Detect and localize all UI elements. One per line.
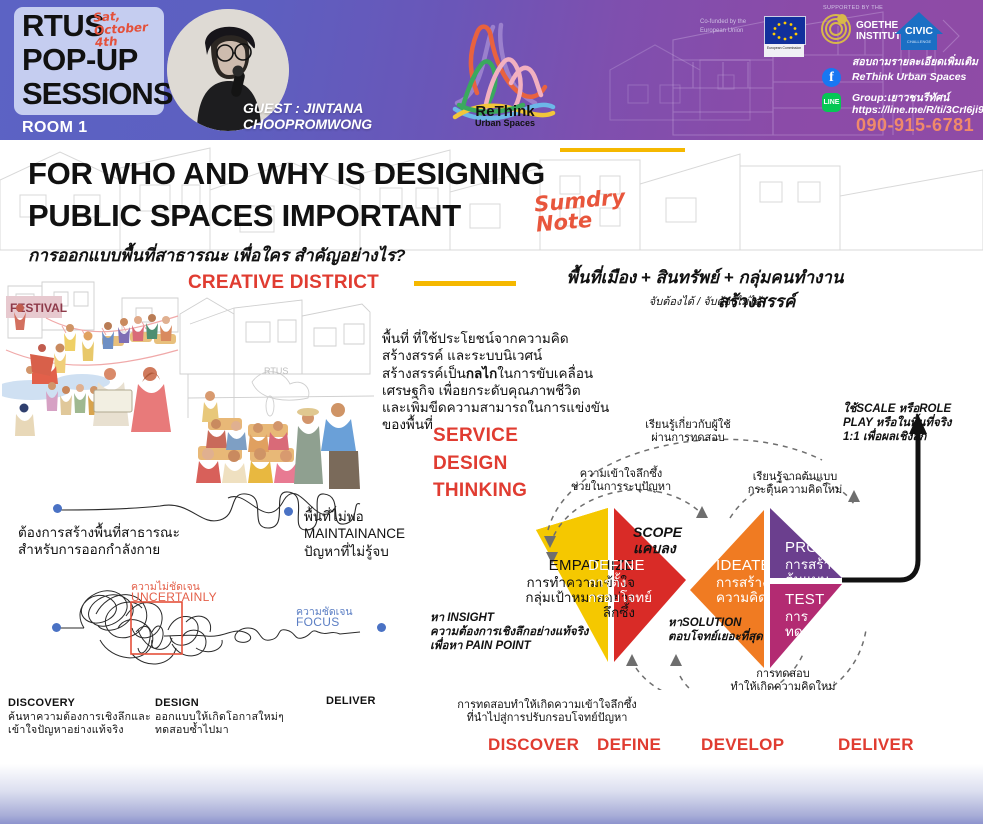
solution-line-1: หาSOLUTION [668, 617, 818, 631]
svg-text:RTUS: RTUS [264, 366, 288, 376]
define-th-2: กรอบโจทย์ [588, 590, 678, 605]
prototype-en: PROTOTYPE [785, 540, 885, 557]
scope-th: แคบลง [633, 540, 682, 556]
phase-discovery: DISCOVERY ค้นหาความต้องการเชิงลึกและ เข้… [8, 697, 158, 737]
community-festival-illustration: FESTIVAL RTUS [2, 278, 374, 493]
footer-gradient [0, 764, 983, 824]
creative-district-formula-tail: สร้างสรรค์ [718, 288, 795, 315]
phase-deliver-name: DELIVER [326, 695, 436, 707]
page-subtitle-thai: การออกแบบพื้นที่สาธารณะ เพื่อใคร สำคัญอย… [28, 242, 405, 269]
dd-phase-deliver: DELIVER [838, 735, 914, 755]
annotation-test-insight-line-2: ทำให้เกิดความคิดใหม่ [700, 681, 866, 694]
annotation-understand-line-2: ช่วยในการระบุปัญหา [541, 481, 701, 494]
annotation-test-reframe-line-2: ที่นำไปสู่การปรับกรอบโจทย์ปัญหา [437, 712, 657, 725]
annotation-learn-users: เรียนรู้เกี่ยวกับผู้ใช้ ผ่านการทดสอบ [608, 419, 768, 445]
squiggle-note-left-line-1: ต้องการสร้างพื้นที่สาธารณะ [18, 525, 248, 542]
prototype-th-2: ต้นแบบ [785, 572, 885, 587]
annotation-learn-prototype-line-2: กระตุ้นความคิดใหม่ [712, 484, 878, 497]
cd-body-line-4: เศรษฐกิจ เพื่อยกระดับคุณภาพชีวิต [382, 382, 622, 399]
cd-body-line-3a: สร้างสรรค์เป็น [382, 366, 466, 381]
annotation-learn-prototype: เรียนรู้จากต้นแบบ กระตุ้นความคิดใหม่ [712, 471, 878, 497]
dd-phase-develop: DEVELOP [701, 735, 784, 755]
facebook-page-name[interactable]: ReThink Urban Spaces [852, 71, 966, 84]
phase-design: DESIGN ออกแบบให้เกิดโอกาสใหม่ๆ ทดสอบซ้ำไ… [155, 697, 305, 737]
annotation-test-reframe: การทดสอบทำให้เกิดความเข้าใจลึกซึ้ง ที่นำ… [437, 699, 657, 725]
contact-phone[interactable]: 090-915-6781 [856, 115, 974, 136]
insight-line-2: ความต้องการเชิงลึกอย่างแท้จริง [430, 626, 630, 640]
guest-name: GUEST : JINTANA CHOOPROMWONG [243, 100, 413, 132]
phase-design-name: DESIGN [155, 697, 305, 709]
creative-district-formula-note: จับต้องได้ / จับต้องไม่ได้ [525, 292, 885, 310]
svg-text:CHALLENGE: CHALLENGE [907, 39, 932, 44]
triangle-label-ideate: IDEATE การสร้าง ความคิด [716, 558, 796, 605]
design-squiggle-main [0, 570, 420, 680]
goethe-institut-logo-icon: GOETHE INSTITUT [820, 12, 900, 46]
line-icon[interactable]: LINE [822, 93, 841, 112]
scope-annotation: SCOPE แคบลง [633, 524, 682, 556]
creative-district-formula: พื้นที่เมือง + สินทรัพย์ + กลุ่มคนทำงาน [525, 268, 885, 288]
uncertainly-label-en: UNCERTAINLY [131, 590, 217, 604]
squiggle-end-dot [284, 507, 293, 516]
annotation-test-reframe-line-1: การทดสอบทำให้เกิดความเข้าใจลึกซึ้ง [437, 699, 657, 712]
annotation-learn-prototype-line-1: เรียนรู้จากต้นแบบ [712, 471, 878, 484]
squiggle-main-start-dot [52, 623, 61, 632]
cd-body-line-2: สร้างสรรค์ และระบบนิเวศน์ [382, 347, 622, 364]
scope-en: SCOPE [633, 524, 682, 540]
supported-by-label: SUPPORTED BY THE [823, 5, 883, 11]
solution-annotation: หาSOLUTION ตอบโจทย์เยอะที่สุด [668, 617, 818, 645]
phase-design-desc-2: ทดสอบซ้ำไปมา [155, 724, 305, 737]
solution-line-2: ตอบโจทย์เยอะที่สุด [668, 631, 818, 645]
page-title-line-1: FOR WHO AND WHY IS DESIGNING [28, 158, 545, 189]
test-en: TEST [785, 592, 865, 609]
annotation-test-insight-line-1: การทดสอบ [700, 668, 866, 681]
squiggle-note-left-line-2: สำหรับการออกกำลังกาย [18, 542, 248, 559]
phase-discovery-desc-2: เข้าใจปัญหาอย่างแท้จริง [8, 724, 158, 737]
define-th-1: การตั้ง [588, 575, 678, 590]
ideate-th-1: การสร้าง [716, 575, 796, 590]
phase-discovery-desc-1: ค้นหาความต้องการเชิงลึกและ [8, 711, 158, 724]
phase-deliver: DELIVER [326, 695, 436, 709]
scale-line-3: 1:1 เพื่อผลเชิงลึก [843, 431, 983, 445]
phase-discovery-name: DISCOVERY [8, 697, 158, 709]
page-title-line-2: PUBLIC SPACES IMPORTANT [28, 200, 461, 231]
creative-district-divider [414, 281, 516, 286]
ideate-th-2: ความคิด [716, 590, 796, 605]
rethink-logo-subtitle: Urban Spaces [455, 119, 555, 128]
insight-annotation: หา INSIGHT ความต้องการเชิงลึกอย่างแท้จริ… [430, 612, 630, 653]
annotation-understand-line-1: ความเข้าใจลึกซึ้ง [541, 468, 701, 481]
annotation-learn-users-line-1: เรียนรู้เกี่ยวกับผู้ใช้ [608, 419, 768, 432]
room-label: ROOM 1 [22, 119, 88, 137]
eu-commission-caption: European Commission [764, 44, 804, 57]
insight-line-1: หา INSIGHT [430, 612, 630, 626]
phase-design-desc-1: ออกแบบให้เกิดโอกาสใหม่ๆ [155, 711, 305, 724]
cd-body-line-3: สร้างสรรค์เป็นกลไกในการขับเคลื่อน [382, 365, 622, 382]
contact-heading: สอบถามรายละเอียดเพิ่มเติม [852, 56, 978, 69]
cd-body-keyword: กลไก [466, 366, 497, 381]
define-en: DEFINE [588, 558, 678, 575]
facebook-icon[interactable]: f [822, 68, 841, 87]
dd-phase-define: DEFINE [597, 735, 661, 755]
squiggle-note-left: ต้องการสร้างพื้นที่สาธารณะ สำหรับการออกก… [18, 525, 248, 559]
insight-line-3: เพื่อหา PAIN POINT [430, 640, 630, 654]
focus-label-en: FOCUS [296, 615, 340, 629]
poster-canvas: RTUS POP-UP SESSIONS Sat, October 4th RO… [0, 0, 983, 824]
session-date: Sat, October 4th [93, 6, 173, 49]
prototype-th-1: การสร้าง [785, 557, 885, 572]
squiggle-start-dot [53, 504, 62, 513]
rethink-logo-name: ReThink [455, 104, 555, 119]
brand-line-3: SESSIONS [22, 78, 173, 109]
eu-flag-icon [764, 16, 806, 45]
annotation-understand: ความเข้าใจลึกซึ้ง ช่วยในการระบุปัญหา [541, 468, 701, 494]
dd-phase-discover: DISCOVER [488, 735, 579, 755]
cd-body-line-3c: ในการขับเคลื่อน [497, 366, 593, 381]
scale-line-1: ใช้SCALE หรือROLE [843, 403, 983, 417]
svg-text:CIVIC: CIVIC [905, 25, 933, 37]
squiggle-main-end-dot [377, 623, 386, 632]
ideate-en: IDEATE [716, 558, 796, 575]
header-banner: RTUS POP-UP SESSIONS Sat, October 4th RO… [0, 0, 983, 140]
cd-body-line-1: พื้นที่ ที่ใช้ประโยชน์จากความคิด [382, 330, 622, 347]
eu-funding-text: Co-funded by the European Union [700, 18, 762, 36]
annotation-test-insight: การทดสอบ ทำให้เกิดความคิดใหม่ [700, 668, 866, 694]
annotation-learn-users-line-2: ผ่านการทดสอบ [608, 432, 768, 445]
scale-line-2: PLAY หรือในพื้นที่จริง [843, 417, 983, 431]
triangle-label-prototype: PROTOTYPE การสร้าง ต้นแบบ [785, 540, 885, 587]
civic-logo-icon: CIVIC CHALLENGE [893, 10, 945, 54]
brand-line-2: POP-UP [22, 44, 138, 75]
triangle-label-define: DEFINE การตั้ง กรอบโจทย์ [588, 558, 678, 605]
scale-roleplay-annotation: ใช้SCALE หรือROLE PLAY หรือในพื้นที่จริง… [843, 403, 983, 444]
